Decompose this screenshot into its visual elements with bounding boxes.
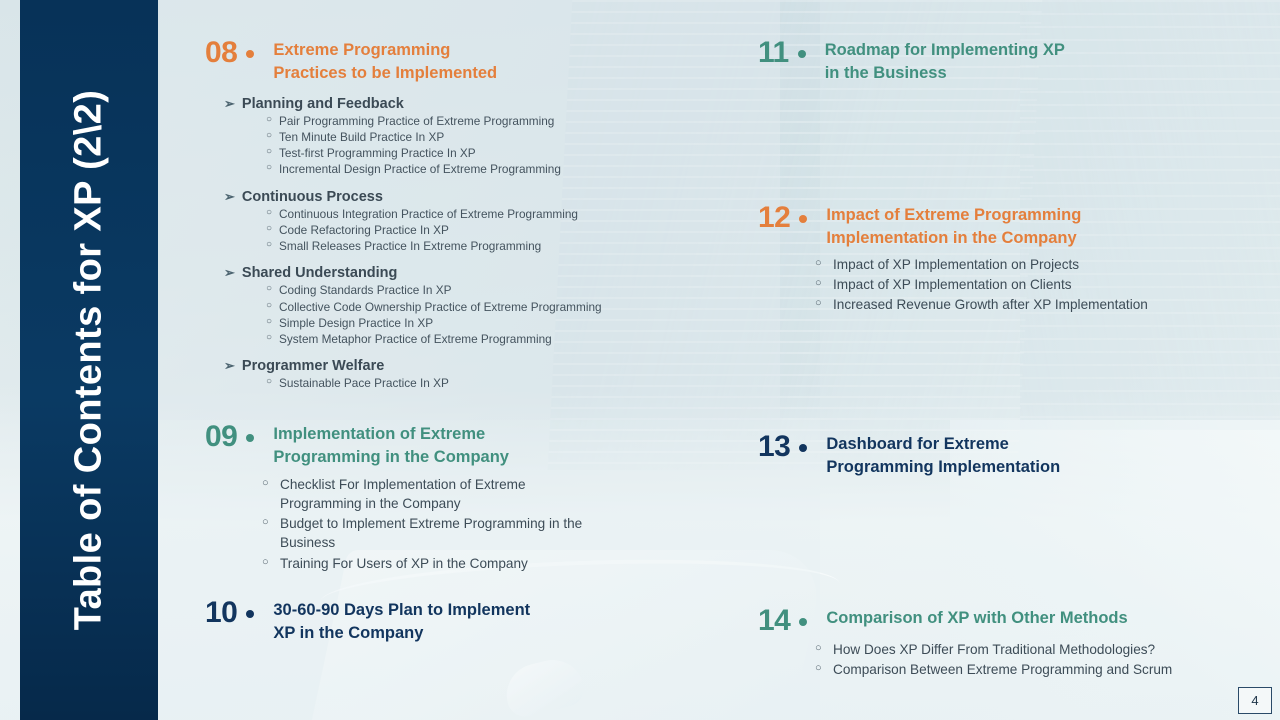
toc-entry-10-number: 10 (205, 598, 237, 628)
list-item[interactable]: ○Ten Minute Build Practice In XP (266, 129, 785, 145)
heading-line-1: Implementation of Extreme (273, 423, 509, 446)
list-item-label: Impact of XP Implementation on Projects (833, 257, 1079, 272)
list-item[interactable]: ○Coding Standards Practice In XP (266, 282, 785, 298)
toc-entry-11[interactable]: 11 Roadmap for Implementing XP in the Bu… (758, 38, 1188, 85)
list-item-label: Increased Revenue Growth after XP Implem… (833, 297, 1148, 312)
arrow-right-icon: ➢ (224, 266, 235, 279)
arrow-right-icon: ➢ (224, 359, 235, 372)
toc-entry-14[interactable]: 14 Comparison of XP with Other Methods ○… (758, 606, 1258, 681)
list-item-label: Ten Minute Build Practice In XP (279, 130, 444, 144)
heading-line-1: Extreme Programming (273, 39, 497, 62)
bullet-dot-icon (799, 444, 807, 452)
list-item[interactable]: ○How Does XP Differ From Traditional Met… (815, 640, 1258, 659)
list-item[interactable]: ○Increased Revenue Growth after XP Imple… (815, 295, 1258, 314)
toc-entry-13-head: 13 Dashboard for Extreme Programming Imp… (758, 432, 1198, 479)
list-item-label: Small Releases Practice In Extreme Progr… (279, 239, 541, 253)
bullet-dot-icon (798, 50, 806, 58)
toc-entry-14-heading: Comparison of XP with Other Methods (826, 607, 1127, 630)
list-item-label: Collective Code Ownership Practice of Ex… (279, 300, 602, 314)
list-item[interactable]: ○System Metaphor Practice of Extreme Pro… (266, 331, 785, 347)
circle-bullet-icon: ○ (266, 299, 272, 313)
list-item-label: Impact of XP Implementation on Clients (833, 277, 1072, 292)
toc-entry-11-heading: Roadmap for Implementing XP in the Busin… (825, 39, 1065, 85)
list-item[interactable]: ○Collective Code Ownership Practice of E… (266, 299, 785, 315)
list-item-label: Training For Users of XP in the Company (280, 556, 528, 571)
toc-entry-10-heading: 30-60-90 Days Plan to Implement XP in th… (273, 599, 530, 645)
toc-entry-12[interactable]: 12 Impact of Extreme Programming Impleme… (758, 203, 1258, 315)
toc-entry-13-number: 13 (758, 432, 790, 462)
list-item-label: Test-first Programming Practice In XP (279, 146, 476, 160)
toc-sublist: ○Continuous Integration Practice of Extr… (224, 206, 785, 255)
list-item-label: Pair Programming Practice of Extreme Pro… (279, 114, 554, 128)
toc-entry-12-number: 12 (758, 203, 790, 233)
toc-entry-08-head: 08 Extreme Programming Practices to be I… (205, 38, 785, 85)
circle-bullet-icon: ○ (266, 206, 272, 220)
group-label: Planning and Feedback (242, 96, 404, 112)
bullet-dot-icon (799, 215, 807, 223)
heading-line-2: Practices to be Implemented (273, 62, 497, 85)
toc-entry-13[interactable]: 13 Dashboard for Extreme Programming Imp… (758, 432, 1198, 479)
arrow-right-icon: ➢ (224, 190, 235, 203)
heading-line-2: XP in the Company (273, 622, 530, 645)
heading-line-1: Roadmap for Implementing XP (825, 39, 1065, 62)
toc-sublist: ○Pair Programming Practice of Extreme Pr… (224, 113, 785, 178)
toc-entry-14-number: 14 (758, 606, 790, 636)
bullet-dot-icon (246, 434, 254, 442)
toc-sublist: ○Coding Standards Practice In XP ○Collec… (224, 282, 785, 347)
list-item[interactable]: ○Incremental Design Practice of Extreme … (266, 161, 785, 177)
circle-bullet-icon: ○ (266, 375, 272, 389)
toc-entry-12-heading: Impact of Extreme Programming Implementa… (826, 204, 1081, 250)
circle-bullet-icon: ○ (266, 282, 272, 296)
bullet-dot-icon (246, 610, 254, 618)
list-item-label: Sustainable Pace Practice In XP (279, 376, 449, 390)
bullet-dot-icon (246, 50, 254, 58)
circle-bullet-icon: ○ (815, 661, 822, 677)
heading-line-1: Comparison of XP with Other Methods (826, 607, 1127, 630)
circle-bullet-icon: ○ (815, 256, 822, 272)
list-item[interactable]: ○Comparison Between Extreme Programming … (815, 660, 1258, 679)
list-item-label: How Does XP Differ From Traditional Meth… (833, 642, 1155, 657)
toc-entry-08-number: 08 (205, 38, 237, 68)
list-item-label: Comparison Between Extreme Programming a… (833, 662, 1172, 677)
list-item-label: System Metaphor Practice of Extreme Prog… (279, 332, 552, 346)
list-item[interactable]: ○Test-first Programming Practice In XP (266, 145, 785, 161)
circle-bullet-icon: ○ (815, 276, 822, 292)
toc-list-09: ○Checklist For Implementation of Extreme… (262, 475, 635, 573)
toc-entry-11-head: 11 Roadmap for Implementing XP in the Bu… (758, 38, 1188, 85)
toc-entry-10[interactable]: 10 30-60-90 Days Plan to Implement XP in… (205, 598, 625, 645)
toc-group-title: ➢ Shared Understanding (224, 265, 785, 281)
toc-entry-09-number: 09 (205, 422, 237, 452)
circle-bullet-icon: ○ (266, 331, 272, 345)
toc-group-title: ➢ Continuous Process (224, 189, 785, 205)
list-item-label: Continuous Integration Practice of Extre… (279, 207, 578, 221)
arrow-right-icon: ➢ (224, 97, 235, 110)
page-number-badge: 4 (1238, 687, 1272, 714)
circle-bullet-icon: ○ (262, 476, 269, 492)
toc-entry-13-heading: Dashboard for Extreme Programming Implem… (826, 433, 1060, 479)
circle-bullet-icon: ○ (266, 129, 272, 143)
circle-bullet-icon: ○ (266, 315, 272, 329)
circle-bullet-icon: ○ (262, 555, 269, 571)
list-item[interactable]: ○Checklist For Implementation of Extreme… (262, 475, 590, 514)
list-item-label: Simple Design Practice In XP (279, 316, 433, 330)
slide-root: Table of Contents for XP (2\2) 08 Extrem… (0, 0, 1280, 720)
circle-bullet-icon: ○ (266, 161, 272, 175)
list-item[interactable]: ○Impact of XP Implementation on Clients (815, 275, 1258, 294)
toc-list-12: ○Impact of XP Implementation on Projects… (815, 255, 1258, 315)
toc-group-continuous-process[interactable]: ➢ Continuous Process ○Continuous Integra… (224, 189, 785, 255)
heading-line-2: Implementation in the Company (826, 227, 1081, 250)
circle-bullet-icon: ○ (266, 238, 272, 252)
list-item[interactable]: ○Impact of XP Implementation on Projects (815, 255, 1258, 274)
circle-bullet-icon: ○ (815, 296, 822, 312)
toc-entry-11-number: 11 (758, 38, 789, 68)
toc-group-planning-and-feedback[interactable]: ➢ Planning and Feedback ○Pair Programmin… (224, 96, 785, 178)
circle-bullet-icon: ○ (266, 113, 272, 127)
heading-line-2: Programming Implementation (826, 456, 1060, 479)
group-label: Programmer Welfare (242, 358, 384, 374)
heading-line-1: 30-60-90 Days Plan to Implement (273, 599, 530, 622)
bullet-dot-icon (799, 618, 807, 626)
toc-entry-08-heading: Extreme Programming Practices to be Impl… (273, 39, 497, 85)
list-item[interactable]: ○Code Refactoring Practice In XP (266, 222, 785, 238)
circle-bullet-icon: ○ (266, 222, 272, 236)
heading-line-2: Programming in the Company (273, 446, 509, 469)
list-item-label: Budget to Implement Extreme Programming … (280, 516, 582, 550)
toc-entry-09-head: 09 Implementation of Extreme Programming… (205, 422, 635, 469)
toc-entry-08[interactable]: 08 Extreme Programming Practices to be I… (205, 38, 785, 392)
list-item[interactable]: ○Budget to Implement Extreme Programming… (262, 514, 600, 553)
list-item-label: Incremental Design Practice of Extreme P… (279, 162, 561, 176)
list-item[interactable]: ○Sustainable Pace Practice In XP (266, 375, 785, 391)
toc-group-shared-understanding[interactable]: ➢ Shared Understanding ○Coding Standards… (224, 265, 785, 347)
list-item-label: Checklist For Implementation of Extreme … (280, 477, 526, 511)
heading-line-1: Dashboard for Extreme (826, 433, 1060, 456)
list-item[interactable]: ○Training For Users of XP in the Company (262, 554, 635, 573)
toc-entry-12-head: 12 Impact of Extreme Programming Impleme… (758, 203, 1258, 250)
toc-sublist: ○Sustainable Pace Practice In XP (224, 375, 785, 391)
list-item-label: Coding Standards Practice In XP (279, 283, 451, 297)
list-item-label: Code Refactoring Practice In XP (279, 223, 449, 237)
toc-content: 08 Extreme Programming Practices to be I… (0, 0, 1280, 720)
list-item[interactable]: ○Pair Programming Practice of Extreme Pr… (266, 113, 785, 129)
toc-entry-14-head: 14 Comparison of XP with Other Methods (758, 606, 1258, 636)
heading-line-2: in the Business (825, 62, 1065, 85)
toc-entry-10-head: 10 30-60-90 Days Plan to Implement XP in… (205, 598, 625, 645)
list-item[interactable]: ○Simple Design Practice In XP (266, 315, 785, 331)
list-item[interactable]: ○Small Releases Practice In Extreme Prog… (266, 238, 785, 254)
group-label: Shared Understanding (242, 265, 398, 281)
toc-group-title: ➢ Programmer Welfare (224, 358, 785, 374)
heading-line-1: Impact of Extreme Programming (826, 204, 1081, 227)
toc-group-programmer-welfare[interactable]: ➢ Programmer Welfare ○Sustainable Pace P… (224, 358, 785, 391)
list-item[interactable]: ○Continuous Integration Practice of Extr… (266, 206, 785, 222)
circle-bullet-icon: ○ (815, 641, 822, 657)
toc-entry-09-heading: Implementation of Extreme Programming in… (273, 423, 509, 469)
group-label: Continuous Process (242, 189, 383, 205)
toc-entry-09[interactable]: 09 Implementation of Extreme Programming… (205, 422, 635, 574)
circle-bullet-icon: ○ (266, 145, 272, 159)
toc-list-14: ○How Does XP Differ From Traditional Met… (815, 640, 1258, 680)
toc-group-title: ➢ Planning and Feedback (224, 96, 785, 112)
circle-bullet-icon: ○ (262, 515, 269, 531)
